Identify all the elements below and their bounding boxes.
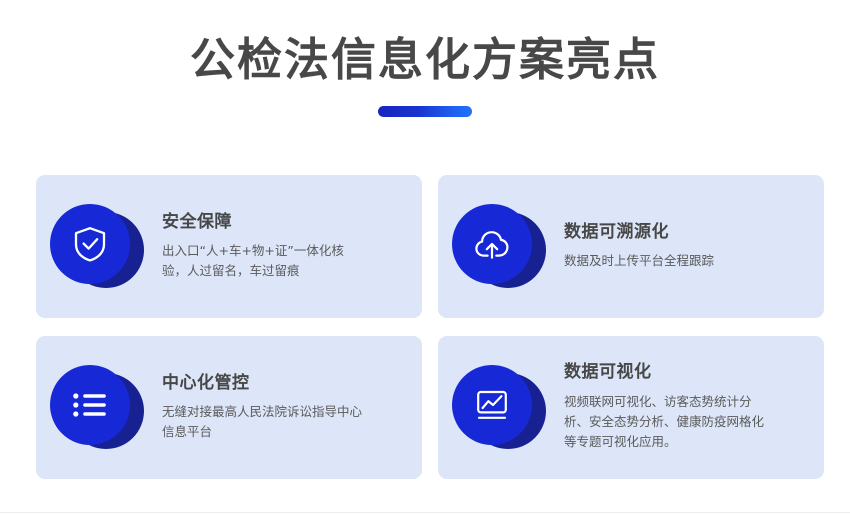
card-description: 数据及时上传平台全程跟踪 — [564, 251, 794, 271]
card-title: 安全保障 — [162, 212, 410, 232]
page-header: 公检法信息化方案亮点 — [0, 0, 850, 117]
highlights-page: 公检法信息化方案亮点 安全保障 出入口“人+车+物+证”一体化核 — [0, 0, 850, 516]
icon-badge — [50, 204, 144, 290]
bullet-list-icon — [71, 390, 109, 420]
card-description: 视频联网可视化、访客态势统计分析、安全态势分析、健康防疫网格化等专题可视化应用。 — [564, 392, 769, 453]
icon-circle — [452, 204, 532, 284]
highlight-card-data-visualization[interactable]: 数据可视化 视频联网可视化、访客态势统计分析、安全态势分析、健康防疫网格化等专题… — [438, 336, 824, 479]
card-description: 出入口“人+车+物+证”一体化核验，人过留名，车过留痕 — [162, 241, 362, 282]
card-title: 中心化管控 — [162, 373, 410, 393]
chart-monitor-icon — [472, 387, 512, 423]
card-text: 安全保障 出入口“人+车+物+证”一体化核验，人过留名，车过留痕 — [162, 212, 410, 282]
icon-circle — [452, 365, 532, 445]
icon-circle — [50, 365, 130, 445]
shield-check-icon — [72, 225, 108, 263]
card-title: 数据可视化 — [564, 362, 812, 382]
icon-badge — [452, 204, 546, 290]
icon-badge — [452, 365, 546, 451]
highlight-card-centralized-control[interactable]: 中心化管控 无缝对接最高人民法院诉讼指导中心信息平台 — [36, 336, 422, 479]
card-text: 数据可视化 视频联网可视化、访客态势统计分析、安全态势分析、健康防疫网格化等专题… — [564, 362, 812, 452]
card-title: 数据可溯源化 — [564, 222, 812, 242]
card-text: 中心化管控 无缝对接最高人民法院诉讼指导中心信息平台 — [162, 373, 410, 443]
card-text: 数据可溯源化 数据及时上传平台全程跟踪 — [564, 222, 812, 272]
icon-circle — [50, 204, 130, 284]
card-description: 无缝对接最高人民法院诉讼指导中心信息平台 — [162, 402, 362, 443]
bottom-divider — [0, 512, 850, 513]
title-underline-bar — [378, 106, 472, 117]
icon-badge — [50, 365, 144, 451]
cloud-upload-icon — [472, 226, 512, 262]
page-title: 公检法信息化方案亮点 — [0, 34, 850, 86]
highlight-card-data-traceability[interactable]: 数据可溯源化 数据及时上传平台全程跟踪 — [438, 175, 824, 318]
highlight-card-security[interactable]: 安全保障 出入口“人+车+物+证”一体化核验，人过留名，车过留痕 — [36, 175, 422, 318]
highlight-cards-grid: 安全保障 出入口“人+车+物+证”一体化核验，人过留名，车过留痕 — [36, 175, 814, 479]
